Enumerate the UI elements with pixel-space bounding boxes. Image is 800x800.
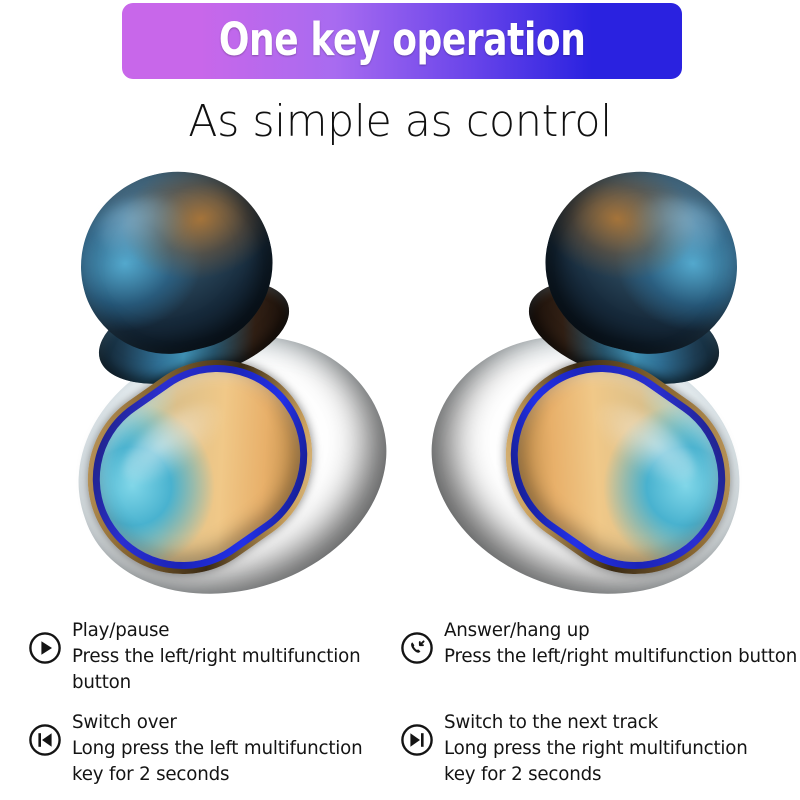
product-image-stage — [0, 160, 800, 605]
feature-description: Long press the left multifunction key fo… — [72, 736, 375, 788]
phone-answer-icon — [400, 631, 434, 665]
feature-item-next-track: Switch to the next track Long press the … — [400, 710, 790, 787]
feature-title: Switch over — [72, 710, 375, 736]
subtitle: As simple as control — [12, 96, 788, 148]
feature-description: Press the left/right multifunction butto… — [72, 644, 375, 696]
product-feature-poster: One key operation As simple as control — [0, 0, 800, 800]
left-earbud-image — [58, 160, 398, 590]
header-banner: One key operation — [122, 3, 682, 79]
banner-title: One key operation — [219, 17, 586, 65]
feature-item-play-pause: Play/pause Press the left/right multifun… — [28, 618, 388, 695]
feature-title: Play/pause — [72, 618, 375, 644]
feature-list: Play/pause Press the left/right multifun… — [0, 610, 800, 800]
feature-title: Answer/hang up — [444, 618, 797, 644]
feature-title: Switch to the next track — [444, 710, 776, 736]
next-track-icon — [400, 723, 434, 757]
previous-track-icon — [28, 723, 62, 757]
feature-item-answer-hang-up: Answer/hang up Press the left/right mult… — [400, 618, 790, 670]
feature-description: Long press the right multifunction key f… — [444, 736, 776, 788]
feature-description: Press the left/right multifunction butto… — [444, 644, 797, 670]
right-earbud-image — [420, 160, 760, 590]
play-circle-icon — [28, 631, 62, 665]
feature-item-switch-over: Switch over Long press the left multifun… — [28, 710, 388, 787]
